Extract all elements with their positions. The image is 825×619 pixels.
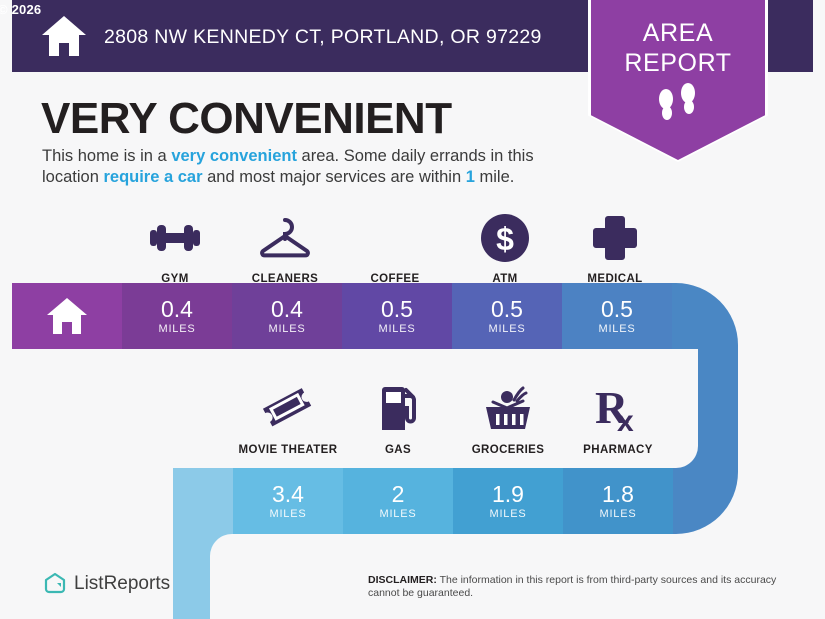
property-address: 2808 NW KENNEDY CT, PORTLAND, OR 97229 xyxy=(104,26,542,49)
distance-value: 0.5 xyxy=(381,297,413,322)
distance-value: 1.8 xyxy=(602,482,634,507)
distance-segment-coffee: 0.5 MILES xyxy=(342,283,452,349)
distance-value: 1.9 xyxy=(492,482,524,507)
distance-segment-pharmacy: 1.8 MILES xyxy=(563,468,673,534)
distance-value: 2 xyxy=(392,482,405,507)
amenity-pharmacy: R x PHARMACY xyxy=(563,381,673,456)
copyright-watermark: © 2026 xyxy=(0,2,41,17)
amenity-gas: GAS xyxy=(343,381,453,456)
amenity-cleaners: CLEANERS xyxy=(230,210,340,285)
distance-unit: MILES xyxy=(598,323,635,335)
distance-value: 0.4 xyxy=(161,297,193,322)
home-icon xyxy=(45,296,89,336)
distance-unit: MILES xyxy=(269,508,306,520)
gas-pump-icon xyxy=(373,381,423,437)
desc-seg-4: mile. xyxy=(475,168,514,186)
distance-value: 0.5 xyxy=(601,297,633,322)
distance-bar-row-2: 3.4 MILES 2 MILES 1.9 MILES 1.8 MILES xyxy=(233,468,673,534)
amenity-gym: GYM xyxy=(120,210,230,285)
distance-unit: MILES xyxy=(488,323,525,335)
distance-unit: MILES xyxy=(379,508,416,520)
disclaimer: DISCLAIMER: The information in this repo… xyxy=(368,574,788,600)
amenity-movie-theater: MOVIE THEATER xyxy=(233,381,343,456)
badge-line-1: AREA xyxy=(584,18,772,48)
desc-highlight-3: 1 xyxy=(466,168,475,186)
distance-bar-row-1: 0.4 MILES 0.4 MILES 0.5 MILES 0.5 MILES … xyxy=(12,283,672,349)
distance-unit: MILES xyxy=(268,323,305,335)
home-icon xyxy=(40,14,88,58)
origin-home-segment xyxy=(12,283,122,349)
hanger-icon xyxy=(256,210,314,266)
medical-cross-icon xyxy=(590,210,640,266)
dumbbell-icon xyxy=(146,210,204,266)
footprints-icon xyxy=(584,82,772,130)
amenity-coffee: COFFEE xyxy=(340,210,450,285)
distance-unit: MILES xyxy=(489,508,526,520)
distance-unit: MILES xyxy=(158,323,195,335)
svg-text:x: x xyxy=(617,405,634,435)
svg-text:$: $ xyxy=(496,221,514,257)
logo-text: ListReports xyxy=(74,573,170,595)
amenity-icon-row-1: GYM CLEANERS COFFEE $ ATM xyxy=(120,210,670,285)
page-title: VERY CONVENIENT xyxy=(41,94,452,144)
desc-highlight-2: require a car xyxy=(103,168,202,186)
badge-label: AREA REPORT xyxy=(584,18,772,78)
disclaimer-label: DISCLAIMER: xyxy=(368,574,437,586)
badge-line-2: REPORT xyxy=(584,48,772,78)
amenity-label: PHARMACY xyxy=(583,444,653,456)
distance-segment-movie-theater: 3.4 MILES xyxy=(233,468,343,534)
amenity-icon-row-2: MOVIE THEATER GAS xyxy=(233,381,673,456)
distance-segment-gym: 0.4 MILES xyxy=(122,283,232,349)
basket-icon xyxy=(480,381,536,437)
amenity-atm: $ ATM xyxy=(450,210,560,285)
desc-highlight-1: very convenient xyxy=(171,147,297,165)
distance-segment-gas: 2 MILES xyxy=(343,468,453,534)
distance-unit: MILES xyxy=(599,508,636,520)
distance-unit: MILES xyxy=(378,323,415,335)
rx-icon: R x xyxy=(593,381,643,437)
listreports-logo-icon xyxy=(44,572,66,596)
distance-segment-cleaners: 0.4 MILES xyxy=(232,283,342,349)
listreports-logo[interactable]: ListReports xyxy=(44,572,170,596)
desc-seg-1: This home is in a xyxy=(42,147,171,165)
amenity-medical: MEDICAL xyxy=(560,210,670,285)
amenity-label: GROCERIES xyxy=(472,444,545,456)
distance-value: 0.5 xyxy=(491,297,523,322)
distance-value: 0.4 xyxy=(271,297,303,322)
dollar-coin-icon: $ xyxy=(479,210,531,266)
ticket-icon xyxy=(261,381,315,437)
distance-segment-medical: 0.5 MILES xyxy=(562,283,672,349)
distance-value: 3.4 xyxy=(272,482,304,507)
desc-seg-3: and most major services are within xyxy=(203,168,466,186)
distance-segment-groceries: 1.9 MILES xyxy=(453,468,563,534)
distance-segment-atm: 0.5 MILES xyxy=(452,283,562,349)
page-description: This home is in a very convenient area. … xyxy=(42,146,587,188)
area-report-page: 2808 NW KENNEDY CT, PORTLAND, OR 97229 ©… xyxy=(0,0,825,619)
amenity-label: MOVIE THEATER xyxy=(239,444,338,456)
amenity-label: GAS xyxy=(385,444,411,456)
amenity-groceries: GROCERIES xyxy=(453,381,563,456)
